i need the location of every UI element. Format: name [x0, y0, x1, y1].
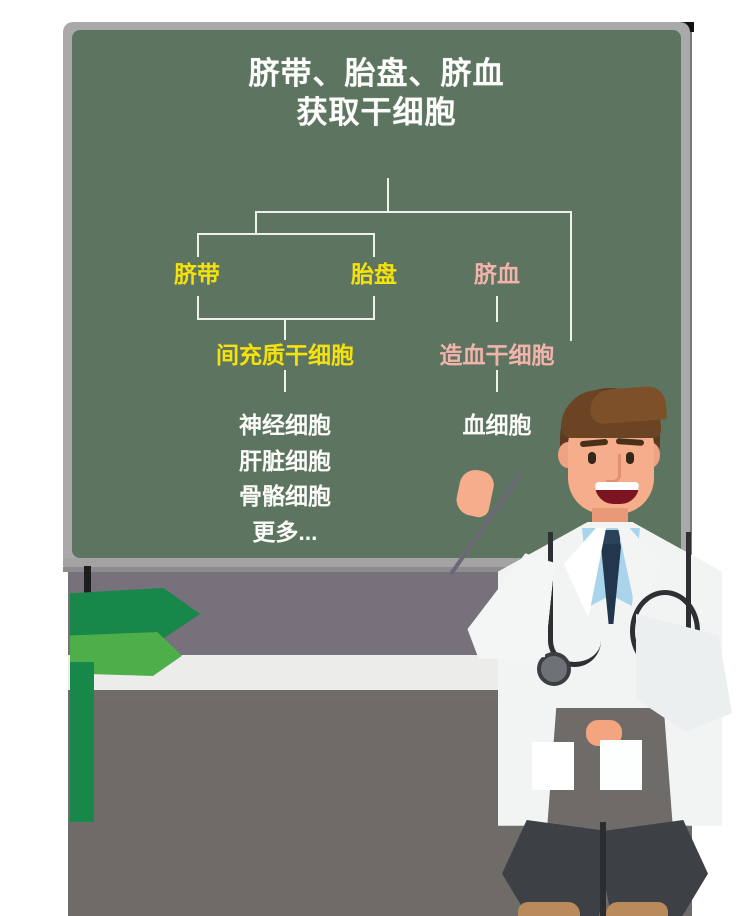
connector-join-left: [197, 296, 199, 320]
stethoscope-tube-left: [548, 532, 601, 667]
doctor-coat-pocket-right: [600, 740, 642, 790]
node-umbilical-cord: 脐带: [153, 255, 241, 289]
board-title-line2: 获取干细胞: [72, 94, 681, 133]
connector-top-bar: [255, 211, 572, 213]
leaf-item: 神经细胞: [165, 408, 405, 444]
doctor-trousers-crease: [600, 822, 606, 916]
node-mesenchymal-stem-cell: 间充质干细胞: [175, 336, 395, 370]
connector-top-left-drop: [255, 211, 257, 235]
connector-sub-right-drop: [373, 233, 375, 257]
leaf-item: 更多...: [165, 515, 405, 551]
node-hematopoietic-stem-cell: 造血干细胞: [387, 336, 607, 370]
doctor-eye-left: [588, 452, 596, 464]
leaf-item: 肝脏细胞: [165, 444, 405, 480]
connector-join-bar: [197, 318, 375, 320]
board-title: 脐带、胎盘、脐血 获取干细胞: [72, 55, 681, 133]
doctor-shoe-left: [518, 902, 580, 916]
doctor-eye-right: [626, 452, 634, 464]
connector-top-right-drop: [570, 211, 572, 341]
connector-sub-left-drop: [197, 233, 199, 257]
plant-leaf-upper: [70, 588, 200, 640]
connector-right-drop-1: [496, 296, 498, 322]
node-cord-blood: 脐血: [453, 255, 541, 289]
doctor-figure: [440, 382, 730, 916]
connector-sub-bar: [197, 233, 375, 235]
scene-root: 脐带、胎盘、脐血 获取干细胞 脐带 胎盘 脐血 间充质干细胞 造血干细胞 神经细…: [0, 0, 752, 916]
leaf-item: 骨骼细胞: [165, 479, 405, 515]
connector-join-right: [373, 296, 375, 320]
node-placenta: 胎盘: [330, 255, 418, 289]
doctor-coat-pocket-left: [532, 742, 574, 790]
connector-trunk: [387, 178, 389, 213]
doctor-teeth: [595, 482, 639, 490]
potted-plant: [62, 588, 202, 708]
doctor-hand-left: [454, 467, 497, 519]
pointer-stick: [449, 474, 522, 576]
board-title-line1: 脐带、胎盘、脐血: [72, 55, 681, 94]
doctor-shoe-right: [606, 902, 668, 916]
leaf-list-left: 神经细胞 肝脏细胞 骨骼细胞 更多...: [165, 408, 405, 551]
doctor-hair-swoop: [589, 385, 667, 424]
connector-left-leaf-drop: [284, 370, 286, 392]
doctor-nose: [606, 454, 621, 483]
plant-stem: [70, 662, 94, 822]
